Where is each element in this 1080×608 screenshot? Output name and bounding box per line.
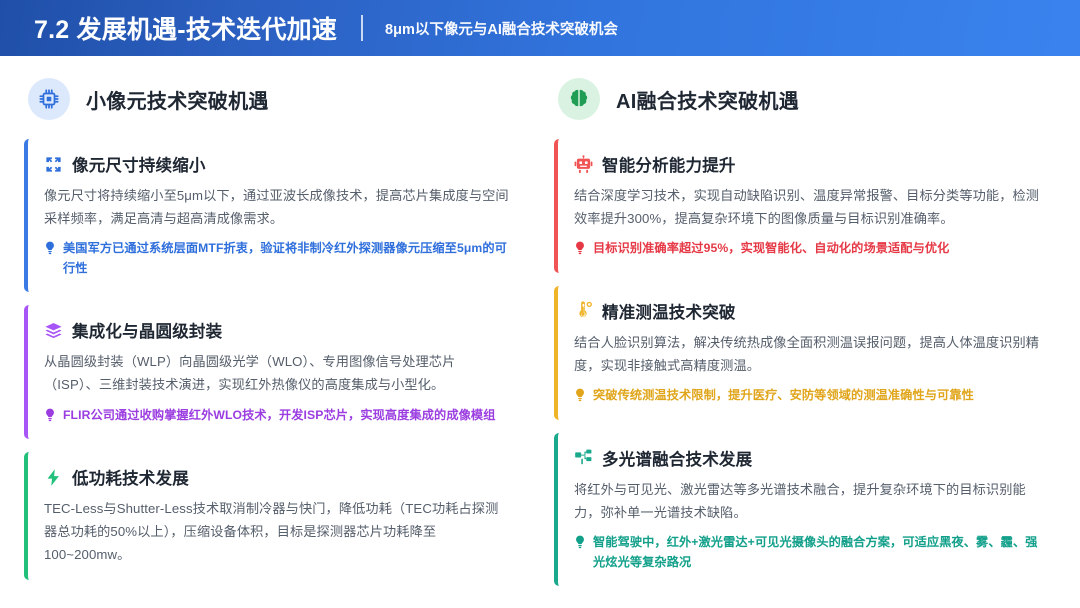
card-description: TEC-Less与Shutter-Less技术取消制冷器与快门，降低功耗（TEC…	[44, 498, 510, 566]
page-header: 7.2 发展机遇-技术迭代加速 8μm以下像元与AI融合技术突破机会	[0, 0, 1080, 56]
network-nodes-icon	[574, 448, 593, 467]
card-title: 集成化与晶圆级封装	[72, 318, 222, 342]
card-note-text: 美国军方已通过系统层面MTF折衷，验证将非制冷红外探测器像元压缩至5μm的可行性	[63, 239, 510, 278]
card-description: 像元尺寸将持续缩小至5μm以下，通过亚波长成像技术，提高芯片集成度与空间采样频率…	[44, 185, 510, 230]
card-description: 将红外与可见光、激光雷达等多光谱技术融合，提升复杂环境下的目标识别能力，弥补单一…	[574, 479, 1040, 524]
card-header: 集成化与晶圆级封装	[44, 318, 510, 342]
card-title: 精准测温技术突破	[602, 299, 736, 323]
card-note: 美国军方已通过系统层面MTF折衷，验证将非制冷红外探测器像元压缩至5μm的可行性	[44, 239, 510, 278]
card-note-text: 目标识别准确率超过95%，实现智能化、自动化的场景适配与优化	[593, 239, 949, 259]
card-description: 结合深度学习技术，实现自动缺陷识别、温度异常报警、目标分类等功能，检测效率提升3…	[574, 185, 1040, 230]
thermometer-icon	[574, 301, 593, 320]
card-title: 智能分析能力提升	[602, 152, 736, 176]
card-header: 多光谱融合技术发展	[574, 446, 1040, 470]
column-header-ai-fusion: AI融合技术突破机遇	[554, 78, 1056, 120]
lightbulb-icon	[574, 388, 586, 402]
page-subtitle: 8μm以下像元与AI融合技术突破机会	[385, 18, 618, 39]
brain-icon	[558, 78, 600, 120]
lightbulb-icon	[44, 241, 56, 255]
column-ai-fusion: AI融合技术突破机遇	[554, 78, 1056, 608]
content-area: 小像元技术突破机遇 像元尺寸持续缩小 像元尺寸将持续缩小至5μm以下，通过亚波长…	[0, 56, 1080, 608]
column-title: AI融合技术突破机遇	[616, 85, 799, 114]
column-title: 小像元技术突破机遇	[86, 85, 269, 114]
card-wafer-packaging[interactable]: 集成化与晶圆级封装 从晶圆级封装（WLP）向晶圆级光学（WLO）、专用图像信号处…	[24, 305, 526, 439]
card-note-text: FLIR公司通过收购掌握红外WLO技术，开发ISP芯片，实现高度集成的成像模组	[63, 406, 496, 426]
card-note-text: 智能驾驶中，红外+激光雷达+可见光摄像头的融合方案，可适应黑夜、雾、霾、强光炫光…	[593, 533, 1040, 572]
card-header: 像元尺寸持续缩小	[44, 152, 510, 176]
header-divider	[361, 15, 363, 41]
robot-icon	[574, 155, 593, 174]
card-title: 像元尺寸持续缩小	[72, 152, 206, 176]
card-header: 精准测温技术突破	[574, 299, 1040, 323]
card-description: 结合人脸识别算法，解决传统热成像全面积测温误报问题，提高人体温度识别精度，实现非…	[574, 332, 1040, 377]
microchip-icon	[28, 78, 70, 120]
card-note: 目标识别准确率超过95%，实现智能化、自动化的场景适配与优化	[574, 239, 1040, 259]
card-header: 智能分析能力提升	[574, 152, 1040, 176]
card-pixel-size[interactable]: 像元尺寸持续缩小 像元尺寸将持续缩小至5μm以下，通过亚波长成像技术，提高芯片集…	[24, 139, 526, 292]
bolt-icon	[44, 468, 63, 487]
compress-arrows-icon	[44, 155, 63, 174]
card-title: 低功耗技术发展	[72, 465, 189, 489]
card-note: FLIR公司通过收购掌握红外WLO技术，开发ISP芯片，实现高度集成的成像模组	[44, 406, 510, 426]
page-title: 7.2 发展机遇-技术迭代加速	[34, 10, 337, 46]
card-low-power[interactable]: 低功耗技术发展 TEC-Less与Shutter-Less技术取消制冷器与快门，…	[24, 452, 526, 580]
card-note: 智能驾驶中，红外+激光雷达+可见光摄像头的融合方案，可适应黑夜、雾、霾、强光炫光…	[574, 533, 1040, 572]
card-note: 突破传统测温技术限制，提升医疗、安防等领域的测温准确性与可靠性	[574, 386, 1040, 406]
card-header: 低功耗技术发展	[44, 465, 510, 489]
card-multispectral-fusion[interactable]: 多光谱融合技术发展 将红外与可见光、激光雷达等多光谱技术融合，提升复杂环境下的目…	[554, 433, 1056, 586]
column-header-small-pixel: 小像元技术突破机遇	[24, 78, 526, 120]
lightbulb-icon	[44, 408, 56, 422]
card-title: 多光谱融合技术发展	[602, 446, 752, 470]
column-small-pixel: 小像元技术突破机遇 像元尺寸持续缩小 像元尺寸将持续缩小至5μm以下，通过亚波长…	[24, 78, 526, 608]
layers-icon	[44, 321, 63, 340]
card-description: 从晶圆级封装（WLP）向晶圆级光学（WLO）、专用图像信号处理芯片（ISP）、三…	[44, 351, 510, 396]
lightbulb-icon	[574, 535, 586, 549]
card-note-text: 突破传统测温技术限制，提升医疗、安防等领域的测温准确性与可靠性	[593, 386, 974, 406]
card-intelligent-analysis[interactable]: 智能分析能力提升 结合深度学习技术，实现自动缺陷识别、温度异常报警、目标分类等功…	[554, 139, 1056, 273]
card-precision-temperature[interactable]: 精准测温技术突破 结合人脸识别算法，解决传统热成像全面积测温误报问题，提高人体温…	[554, 286, 1056, 420]
lightbulb-icon	[574, 241, 586, 255]
